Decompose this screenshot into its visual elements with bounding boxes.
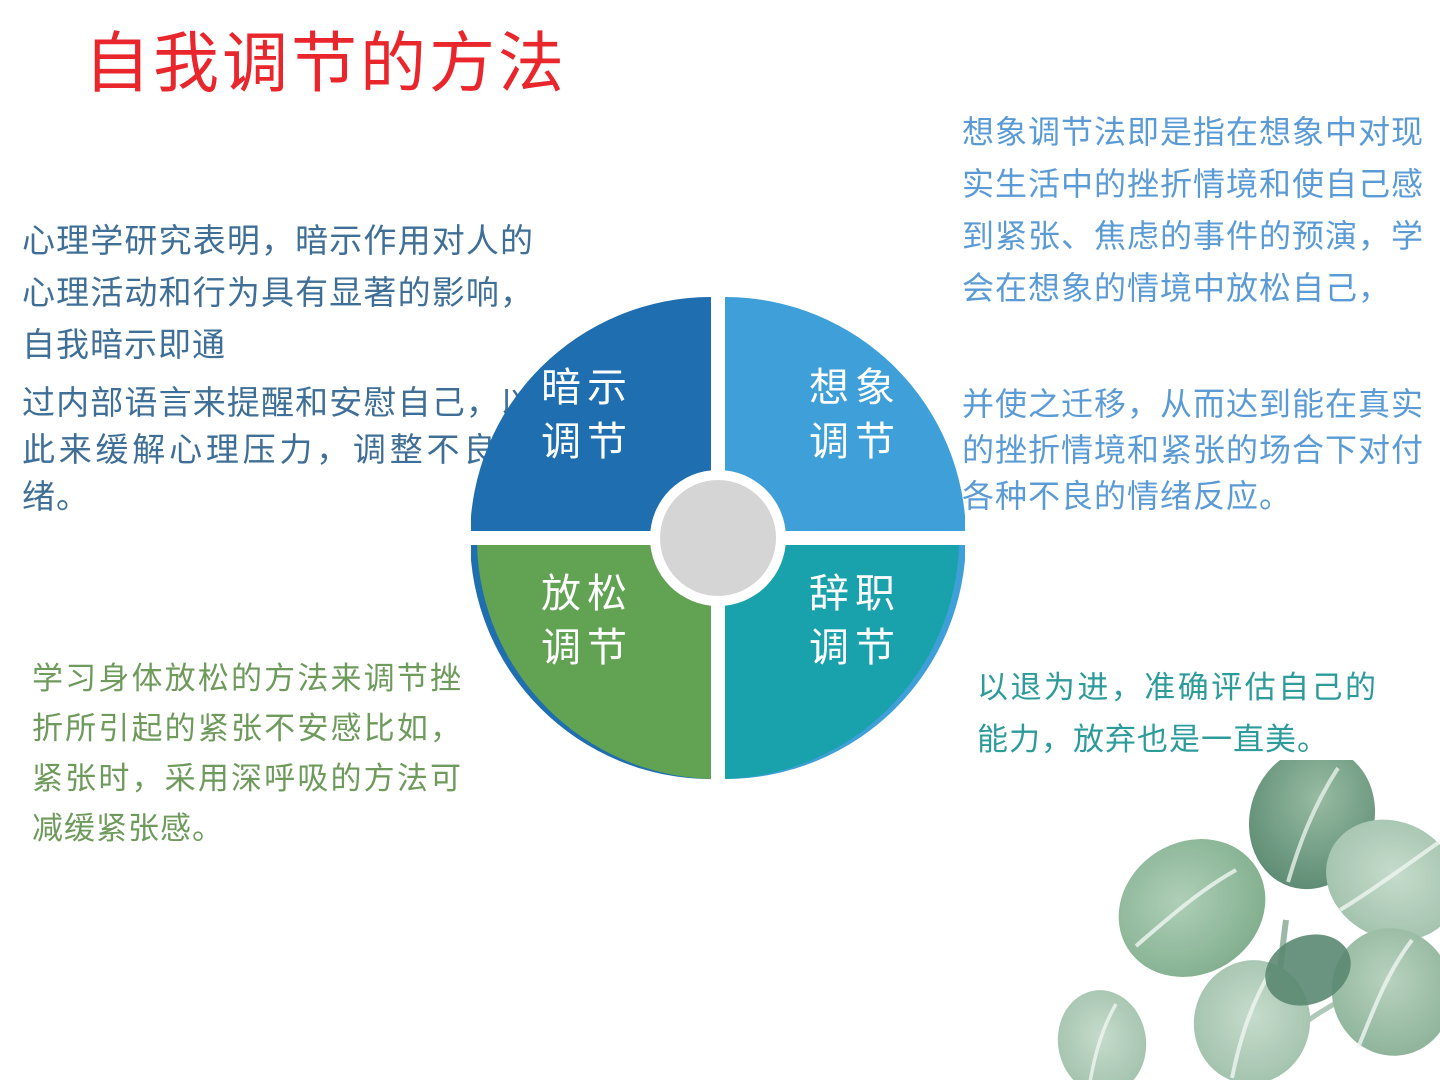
pie-hub-center — [660, 480, 776, 596]
paragraph-resignation-regulation: 以退为进，准确评估自己的能力，放弃也是一直美。 — [977, 662, 1377, 766]
paragraph-relaxation-regulation: 学习身体放松的方法来调节挫折所引起的紧张不安感比如，紧张时，采用深呼吸的方法可减… — [32, 654, 462, 854]
paragraph-suggestion-regulation-part1: 心理学研究表明，暗示作用对人的心理活动和行为具有显著的影响，自我暗示即通 — [22, 216, 534, 372]
paragraph-suggestion-regulation-part2: 过内部语言来提醒和安慰自己，以此来缓解心理压力，调整不良情绪。 — [22, 381, 534, 522]
four-quadrant-pie-diagram: 暗示 调节 想象 调节 放松 调节 辞职 调节 — [471, 291, 965, 785]
pie-chart-svg — [471, 291, 965, 785]
page-title: 自我调节的方法 — [84, 28, 567, 102]
slide-canvas: 自我调节的方法 心理学研究表明，暗示作用对人的心理活动和行为具有显著的影响，自我… — [0, 0, 1440, 1080]
paragraph-imagination-regulation-part1: 想象调节法即是指在想象中对现实生活中的挫折情境和使自己感到紧张、焦虑的事件的预演… — [962, 106, 1424, 314]
paragraph-imagination-regulation-part2: 并使之迁移，从而达到能在真实的挫折情境和紧张的场合下对付各种不良的情绪反应。 — [962, 381, 1424, 519]
watercolor-eucalyptus-leaves-icon — [1040, 760, 1440, 1080]
